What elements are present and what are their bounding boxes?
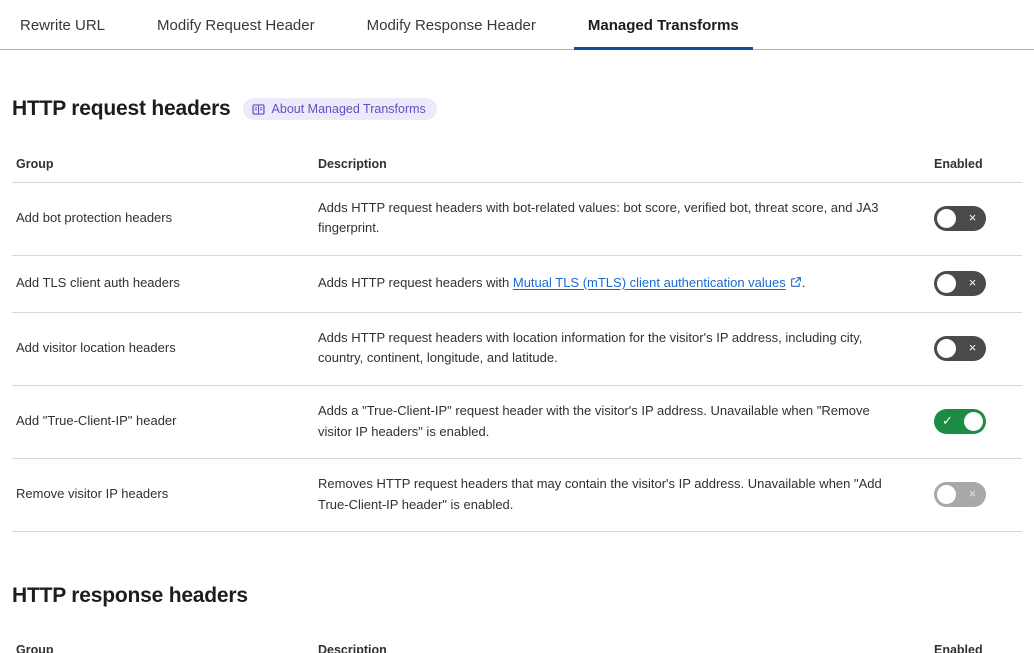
response-section-title: HTTP response headers: [12, 584, 248, 608]
tab-managed-transforms[interactable]: Managed Transforms: [588, 0, 739, 49]
toggle-check-icon: ✓: [934, 409, 961, 434]
row-enabled-cell: ✓: [934, 385, 1022, 458]
description-prefix: Adds HTTP request headers with: [318, 275, 513, 290]
column-header-description: Description: [318, 643, 934, 653]
column-header-group: Group: [12, 157, 318, 183]
table-header-row: Group Description Enabled: [12, 157, 1022, 183]
toggle-cross-icon: ×: [959, 271, 986, 296]
http-response-headers-section: HTTP response headers Group Description …: [12, 566, 1022, 653]
toggle-add-bot-protection-headers[interactable]: ×: [934, 206, 986, 231]
response-section-header: HTTP response headers: [12, 566, 1022, 625]
toggle-add-tls-client-auth-headers[interactable]: ×: [934, 271, 986, 296]
table-row: Add "True-Client-IP" header Adds a "True…: [12, 385, 1022, 458]
row-description: Adds HTTP request headers with bot-relat…: [318, 182, 934, 255]
toggle-knob: [937, 274, 956, 293]
row-group-label: Remove visitor IP headers: [12, 459, 318, 532]
row-group-label: Add "True-Client-IP" header: [12, 385, 318, 458]
toggle-cross-icon: ×: [959, 206, 986, 231]
row-description: Adds HTTP request headers with location …: [318, 312, 934, 385]
description-suffix: .: [802, 275, 806, 290]
row-group-label: Add visitor location headers: [12, 312, 318, 385]
tab-rewrite-url[interactable]: Rewrite URL: [20, 0, 105, 49]
table-header-row: Group Description Enabled: [12, 643, 1022, 653]
row-enabled-cell: ×: [934, 312, 1022, 385]
row-description: Removes HTTP request headers that may co…: [318, 459, 934, 532]
about-managed-transforms-badge[interactable]: About Managed Transforms: [243, 98, 437, 120]
table-row: Add visitor location headers Adds HTTP r…: [12, 312, 1022, 385]
about-managed-transforms-label: About Managed Transforms: [272, 102, 426, 116]
tab-bar: Rewrite URL Modify Request Header Modify…: [0, 0, 1034, 50]
external-link-icon: [790, 274, 802, 295]
column-header-enabled: Enabled: [934, 643, 1022, 653]
toggle-knob: [937, 339, 956, 358]
request-section-header: HTTP request headers About Managed Trans…: [12, 80, 1022, 139]
toggle-add-visitor-location-headers[interactable]: ×: [934, 336, 986, 361]
row-description: Adds a "True-Client-IP" request header w…: [318, 385, 934, 458]
row-group-label: Add bot protection headers: [12, 182, 318, 255]
row-enabled-cell: ×: [934, 459, 1022, 532]
toggle-cross-icon: ×: [959, 336, 986, 361]
page-content: HTTP request headers About Managed Trans…: [0, 80, 1034, 653]
http-request-headers-section: HTTP request headers About Managed Trans…: [12, 80, 1022, 532]
table-row: Add bot protection headers Adds HTTP req…: [12, 182, 1022, 255]
toggle-remove-visitor-ip-headers: ×: [934, 482, 986, 507]
mtls-documentation-link[interactable]: Mutual TLS (mTLS) client authentication …: [513, 275, 786, 290]
tab-modify-response-header[interactable]: Modify Response Header: [367, 0, 536, 49]
response-headers-table: Group Description Enabled Remove "X-Powe…: [12, 643, 1022, 653]
table-row: Remove visitor IP headers Removes HTTP r…: [12, 459, 1022, 532]
row-enabled-cell: ×: [934, 255, 1022, 312]
toggle-knob: [964, 412, 983, 431]
page-title: HTTP request headers: [12, 97, 231, 121]
book-icon: [252, 103, 265, 116]
toggle-knob: [937, 485, 956, 504]
row-enabled-cell: ×: [934, 182, 1022, 255]
row-description: Adds HTTP request headers with Mutual TL…: [318, 255, 934, 312]
column-header-enabled: Enabled: [934, 157, 1022, 183]
row-group-label: Add TLS client auth headers: [12, 255, 318, 312]
toggle-add-true-client-ip-header[interactable]: ✓: [934, 409, 986, 434]
toggle-knob: [937, 209, 956, 228]
column-header-description: Description: [318, 157, 934, 183]
table-row: Add TLS client auth headers Adds HTTP re…: [12, 255, 1022, 312]
request-headers-table: Group Description Enabled Add bot protec…: [12, 157, 1022, 532]
tab-modify-request-header[interactable]: Modify Request Header: [157, 0, 315, 49]
column-header-group: Group: [12, 643, 318, 653]
toggle-cross-icon: ×: [959, 482, 986, 507]
